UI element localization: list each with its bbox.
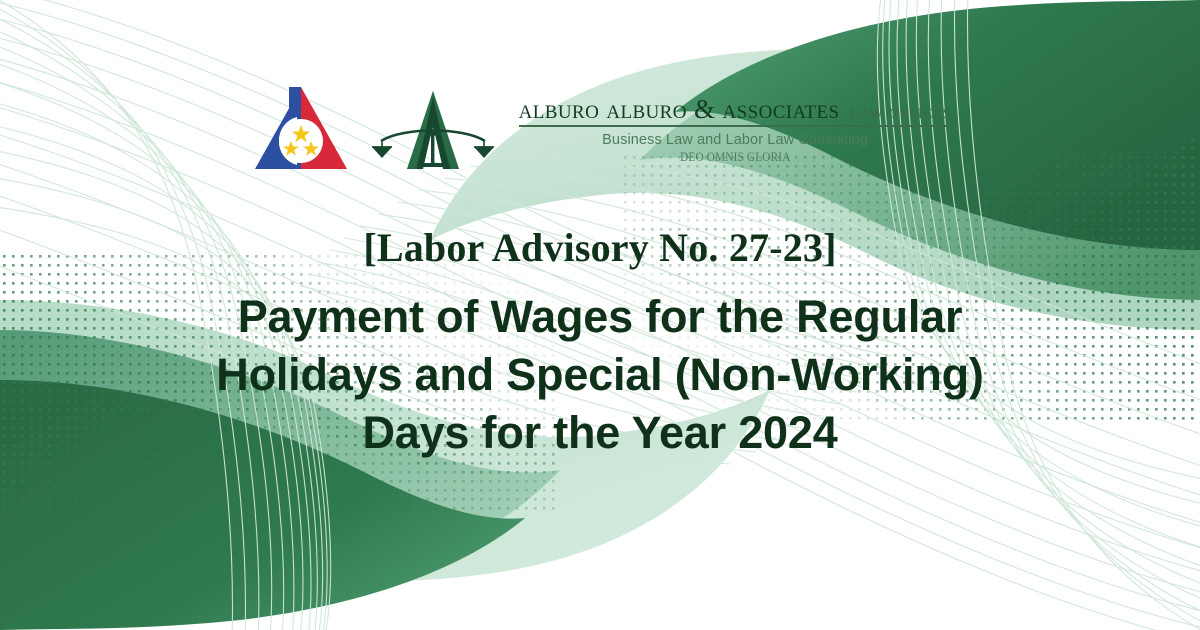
firm-name: Alburo Alburo & Associates	[519, 95, 840, 123]
dole-triangle-logo	[249, 83, 353, 173]
headline-line-3: Days for the Year 2024	[216, 404, 983, 462]
scales-of-justice-a-logo	[371, 83, 495, 173]
headline-line-2: Holidays and Special (Non-Working)	[216, 346, 983, 404]
advisory-label: [Labor Advisory No. 27-23]	[363, 226, 836, 270]
firm-tagline: Business Law and Labor Law Consulting	[602, 132, 868, 148]
poster-content: Alburo Alburo & Associates Law Offices B…	[0, 0, 1200, 630]
firm-suffix: Law Offices	[850, 100, 952, 123]
firm-motto: DEO OMNIS GLORIA	[680, 150, 790, 165]
firm-name-line: Alburo Alburo & Associates Law Offices	[519, 95, 952, 127]
headline-line-1: Payment of Wages for the Regular	[216, 288, 983, 346]
headline: Payment of Wages for the Regular Holiday…	[216, 288, 983, 462]
firm-wordmark: Alburo Alburo & Associates Law Offices B…	[519, 91, 952, 165]
brand-header: Alburo Alburo & Associates Law Offices B…	[249, 82, 952, 174]
poster-canvas: Alburo Alburo & Associates Law Offices B…	[0, 0, 1200, 630]
